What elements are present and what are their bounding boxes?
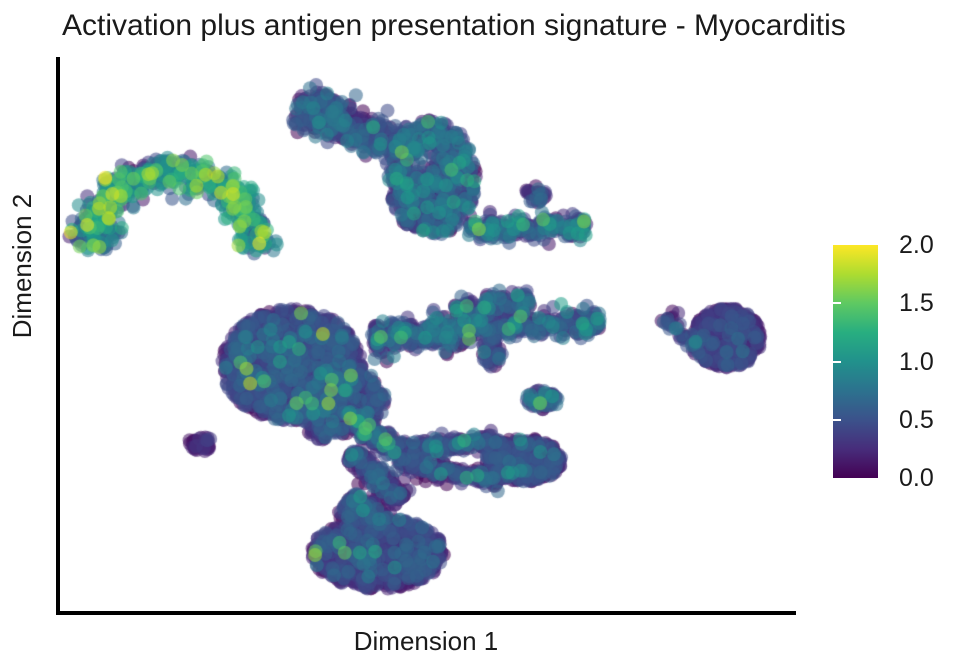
- colorbar-tick-mark: [952, 302, 960, 304]
- colorbar-tick-label: 0.5: [899, 407, 934, 433]
- colorbar-tick-mark: [952, 419, 960, 421]
- y-axis-line: [56, 57, 60, 615]
- y-axis-label-wrapper: Dimension 2: [2, 156, 42, 376]
- colorbar-tick-mark: [833, 419, 841, 421]
- colorbar-tick-mark: [833, 361, 841, 363]
- x-axis-label: Dimension 1: [0, 626, 852, 657]
- page-title: Activation plus antigen presentation sig…: [62, 6, 846, 46]
- colorbar-tick-label: 2.0: [899, 232, 934, 258]
- colorbar-tick-label: 0.0: [899, 465, 934, 491]
- y-axis-label: Dimension 2: [2, 156, 42, 376]
- colorbar-legend: 2.01.51.00.50.0: [833, 245, 960, 479]
- x-axis-line: [56, 611, 796, 615]
- colorbar-tick-mark: [952, 361, 960, 363]
- colorbar-tick-label: 1.5: [899, 290, 934, 316]
- scatter-points-canvas: [59, 56, 797, 614]
- colorbar-tick-mark: [833, 302, 841, 304]
- plot-panel: [59, 56, 797, 614]
- scatter-plot-figure: Activation plus antigen presentation sig…: [0, 0, 960, 672]
- colorbar-tick-label: 1.0: [899, 349, 934, 375]
